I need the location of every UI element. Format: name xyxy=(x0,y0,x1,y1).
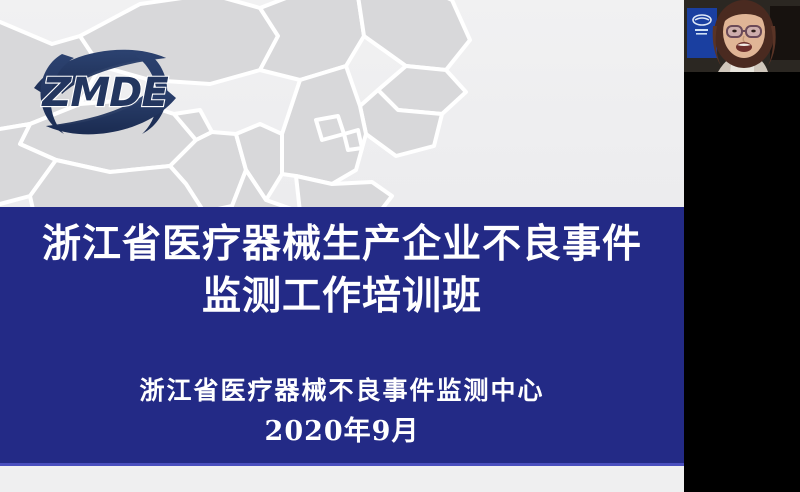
video-sidebar xyxy=(684,0,800,492)
screen-share-view: ZMDE 浙江省医疗器械生产企业不良事件 监测工作培训班 浙江省医疗器械不良事件… xyxy=(0,0,800,492)
slide-title-band: 浙江省医疗器械生产企业不良事件 监测工作培训班 浙江省医疗器械不良事件监测中心 … xyxy=(0,207,684,466)
slide-subtitle: 浙江省医疗器械不良事件监测中心 2020年9月 xyxy=(0,370,684,452)
svg-text:ZMDE: ZMDE xyxy=(40,70,168,116)
title-line-2: 监测工作培训班 xyxy=(0,271,684,323)
presentation-slide[interactable]: ZMDE 浙江省医疗器械生产企业不良事件 监测工作培训班 浙江省医疗器械不良事件… xyxy=(0,0,684,492)
slide-bottom-strip xyxy=(0,469,684,492)
participant-video-thumbnail[interactable] xyxy=(684,0,800,84)
subtitle-date: 2020年9月 xyxy=(0,411,684,452)
webcam-frame xyxy=(684,0,800,84)
title-line-1: 浙江省医疗器械生产企业不良事件 xyxy=(0,219,684,271)
slide-title: 浙江省医疗器械生产企业不良事件 监测工作培训班 xyxy=(0,219,684,323)
subtitle-organization: 浙江省医疗器械不良事件监测中心 xyxy=(0,370,684,411)
zmde-logo: ZMDE xyxy=(16,36,194,148)
